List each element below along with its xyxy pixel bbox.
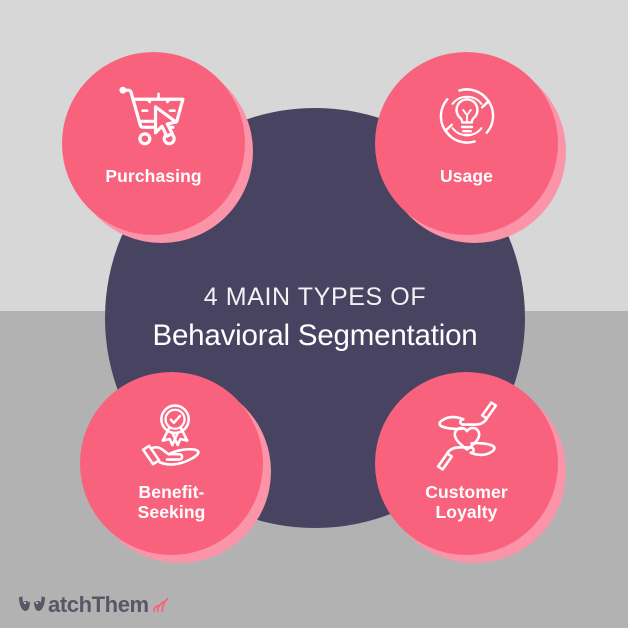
- watchthem-logo-text: atchThem: [48, 594, 149, 616]
- node-usage[interactable]: Usage: [375, 52, 558, 235]
- watchthem-eyes-icon: [17, 594, 47, 616]
- node-disc[interactable]: Benefit- Seeking: [80, 372, 263, 555]
- node-label: Benefit- Seeking: [138, 482, 206, 522]
- lightbulb-refresh-icon: [429, 78, 505, 154]
- node-customer-loyalty[interactable]: Customer Loyalty: [375, 372, 558, 555]
- hand-award-badge-icon: [134, 398, 210, 474]
- node-disc[interactable]: Usage: [375, 52, 558, 235]
- hands-holding-heart-icon: [429, 398, 505, 474]
- watchthem-logo[interactable]: atchThem: [17, 590, 168, 620]
- node-label: Purchasing: [105, 166, 201, 186]
- shopping-cart-cursor-icon: [116, 78, 192, 154]
- node-disc[interactable]: Customer Loyalty: [375, 372, 558, 555]
- signal-wave-icon: [151, 597, 168, 614]
- node-label: Customer Loyalty: [425, 482, 507, 522]
- infographic-canvas: 4 MAIN TYPES OF Behavioral Segmentation …: [0, 0, 628, 628]
- node-label: Usage: [440, 166, 493, 186]
- node-purchasing[interactable]: Purchasing: [62, 52, 245, 235]
- node-disc[interactable]: Purchasing: [62, 52, 245, 235]
- node-benefit-seeking[interactable]: Benefit- Seeking: [80, 372, 263, 555]
